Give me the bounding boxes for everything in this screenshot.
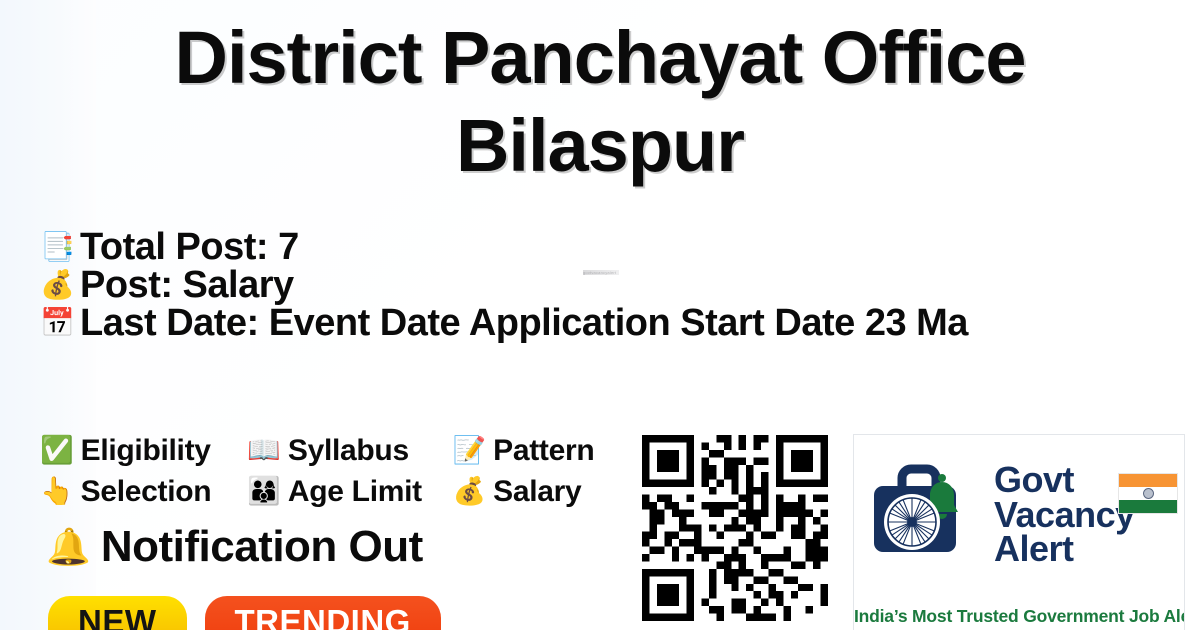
exam-paper-icon: 📝 [453, 437, 487, 464]
poster-canvas: District Panchayat Office Bilaspur 📑 Tot… [0, 0, 1200, 630]
feature-selection-label: Selection [81, 476, 212, 508]
calendar-icon: 📅 [40, 309, 80, 337]
feature-eligibility-label: Eligibility [81, 435, 211, 467]
chakra-icon [1143, 488, 1154, 499]
info-list: 📑 Total Post: 7 💰 Post: Salary 📅 Last Da… [40, 228, 1200, 342]
money-bag-in-hand-icon: 💰 [453, 478, 487, 505]
briefcase-chakra-bell-icon [866, 456, 988, 574]
flag-band-white [1119, 487, 1177, 500]
badge-row: NEW TRENDING [48, 596, 441, 630]
info-last-date-text: Last Date: Event Date Application Start … [80, 303, 968, 343]
info-row-last-date: 📅 Last Date: Event Date Application Star… [40, 304, 1200, 342]
notification-out-text: Notification Out [101, 524, 423, 570]
brand-tagline: India’s Most Trusted Government Job Aler… [854, 606, 1185, 627]
brand-word-alert: Alert [994, 532, 1135, 567]
brand-word-vacancy: Vacancy [994, 498, 1135, 533]
feature-age-limit-label: Age Limit [288, 476, 422, 508]
brand-wordmark: Govt Vacancy Alert [994, 463, 1135, 568]
status-badge-new[interactable]: NEW [48, 596, 187, 630]
features-row-1: ✅ Eligibility 📖 Syllabus 📝 Pattern [40, 430, 640, 471]
brand-logo-card: Govt Vacancy Alert India’s Most Trusted … [853, 434, 1185, 630]
feature-salary-label: Salary [493, 476, 581, 508]
money-icon: 💰 [40, 271, 80, 299]
feature-age-limit[interactable]: 👨‍👩‍👦 Age Limit [247, 476, 452, 508]
flag-band-saffron [1119, 474, 1177, 487]
feature-salary[interactable]: 💰 Salary [453, 476, 641, 508]
check-mark-icon: ✅ [40, 437, 74, 464]
info-row-total-post: 📑 Total Post: 7 [40, 228, 1200, 266]
title-line-1: District Panchayat Office [0, 14, 1200, 102]
hand-selecting-people-icon: 👆 [40, 478, 74, 505]
info-post-salary-text: Post: Salary [80, 265, 294, 305]
features-grid: ✅ Eligibility 📖 Syllabus 📝 Pattern 👆 Sel… [40, 430, 640, 512]
flag-band-green [1119, 500, 1177, 513]
qr-code-svg [642, 435, 828, 621]
feature-eligibility[interactable]: ✅ Eligibility [40, 435, 247, 467]
feature-syllabus[interactable]: 📖 Syllabus [247, 435, 452, 467]
notification-out-line: 🔔 Notification Out [46, 524, 423, 570]
logo-main-row: Govt Vacancy Alert [854, 451, 1185, 579]
family-heights-icon: 👨‍👩‍👦 [247, 478, 281, 505]
document-search-icon: 📑 [40, 233, 80, 261]
features-row-2: 👆 Selection 👨‍👩‍👦 Age Limit 💰 Salary [40, 471, 640, 512]
feature-pattern[interactable]: 📝 Pattern [453, 435, 641, 467]
watermark-artifact: govtvacancyalert [583, 270, 619, 275]
info-row-post-salary: 💰 Post: Salary [40, 266, 1200, 304]
feature-pattern-label: Pattern [493, 435, 594, 467]
feature-syllabus-label: Syllabus [288, 435, 409, 467]
notification-bell-icon: 🔔 [46, 529, 91, 565]
qr-code[interactable] [637, 430, 833, 626]
feature-selection[interactable]: 👆 Selection [40, 476, 247, 508]
title-line-2: Bilaspur [0, 102, 1200, 190]
logo-mark-svg [866, 456, 988, 574]
status-badge-trending[interactable]: TRENDING [205, 596, 441, 630]
page-title: District Panchayat Office Bilaspur [0, 14, 1200, 190]
brand-word-govt: Govt [994, 463, 1135, 498]
info-total-post-text: Total Post: 7 [80, 227, 299, 267]
open-book-pen-icon: 📖 [247, 437, 281, 464]
india-flag-icon [1118, 473, 1178, 514]
